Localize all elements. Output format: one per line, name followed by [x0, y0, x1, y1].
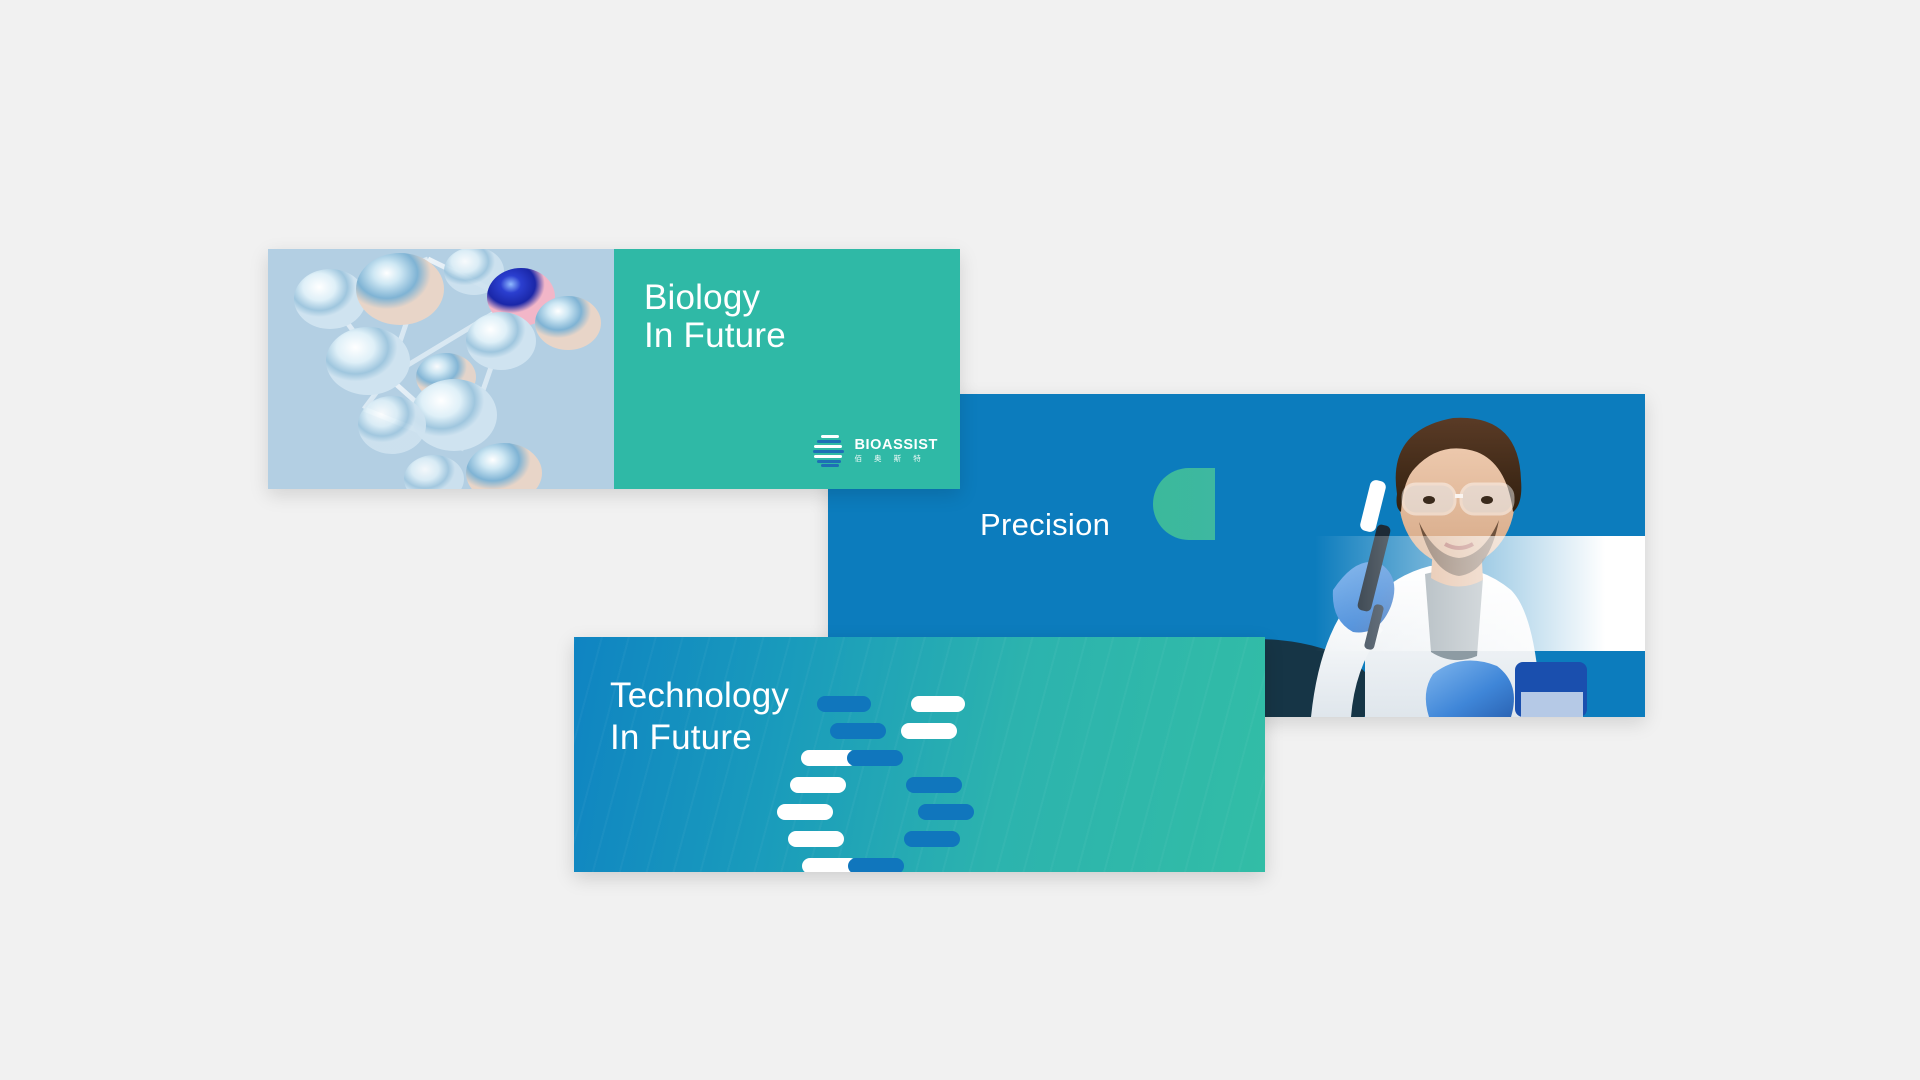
- gel-band: [777, 804, 833, 820]
- gel-band: [901, 723, 957, 739]
- bioassist-logo[interactable]: BIOASSIST 佰 奥 斯 特: [812, 433, 938, 467]
- molecule-illustration: [268, 249, 614, 489]
- gel-band: [788, 831, 844, 847]
- logo-wordmark: BIOASSIST 佰 奥 斯 特: [854, 438, 938, 463]
- gel-band: [847, 750, 903, 766]
- gel-band: [918, 804, 974, 820]
- biology-banner[interactable]: Biology In Future BIOASSIST 佰 奥 斯 特: [268, 249, 960, 489]
- biology-title: Biology In Future: [644, 279, 960, 355]
- biology-text-panel: Biology In Future BIOASSIST 佰 奥 斯 特: [614, 249, 960, 489]
- photo-white-fade-band: [1315, 536, 1645, 651]
- gel-band: [790, 777, 846, 793]
- gel-band: [830, 723, 886, 739]
- logo-name: BIOASSIST: [854, 438, 938, 453]
- gel-band: [904, 831, 960, 847]
- precision-label: Precision: [980, 507, 1110, 543]
- technology-banner[interactable]: Technology In Future: [574, 637, 1265, 872]
- dna-gel-graphic: [574, 637, 1265, 872]
- canvas: Biology In Future BIOASSIST 佰 奥 斯 特: [0, 0, 1920, 1080]
- molecule-photo: [268, 249, 614, 489]
- gel-bands-logo-icon: [812, 433, 846, 467]
- gel-band: [848, 858, 904, 872]
- gel-band: [906, 777, 962, 793]
- scientist-photo: [1215, 394, 1645, 717]
- logo-name-chinese: 佰 奥 斯 特: [854, 455, 938, 463]
- gel-band: [817, 696, 871, 712]
- gel-band: [911, 696, 965, 712]
